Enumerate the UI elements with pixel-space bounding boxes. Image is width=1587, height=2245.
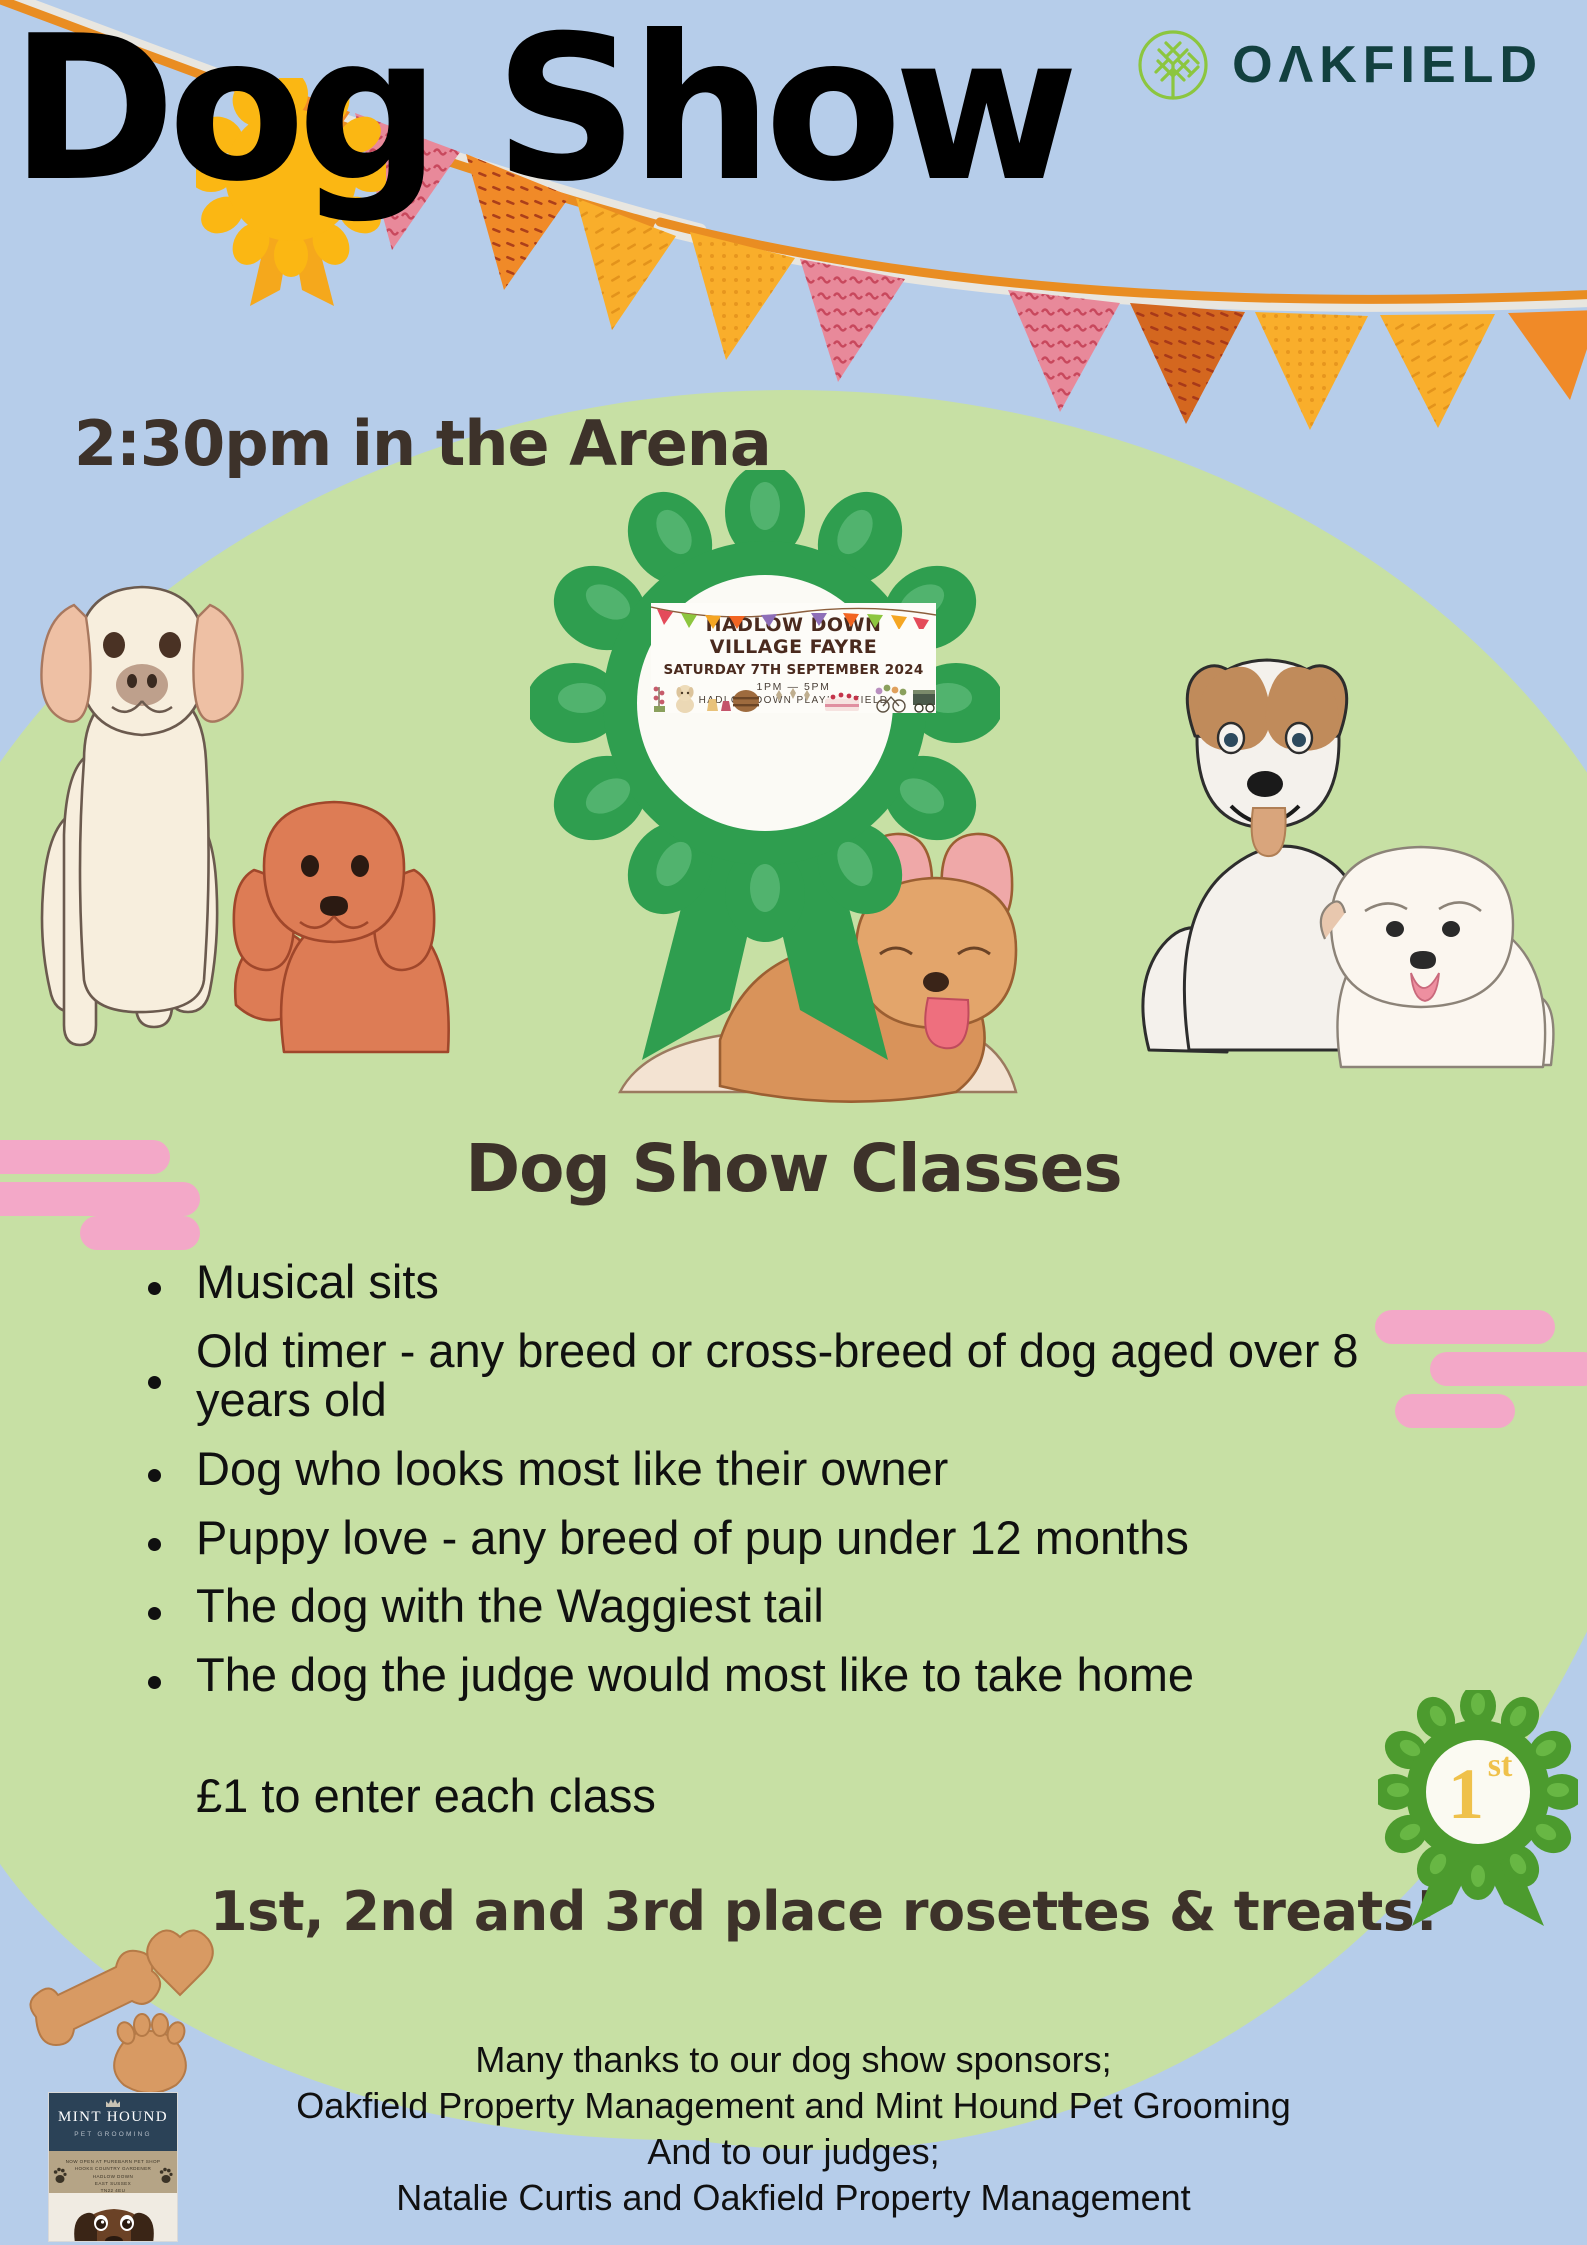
event-time: 2:30pm in the Arena <box>74 407 771 480</box>
paw-biscuit-icon <box>114 2014 187 2093</box>
crown-icon <box>106 2099 120 2107</box>
footer-line-1: Many thanks to our dog show sponsors; <box>0 2037 1587 2083</box>
mint-hound-details-band: NOW OPEN AT PUREBARN PET SHOPHOOKS COUNT… <box>49 2151 177 2193</box>
dog-treat-biscuits <box>14 1925 224 2105</box>
footer-line-2: Oakfield Property Management and Mint Ho… <box>0 2083 1587 2129</box>
fayre-date: SATURDAY 7TH SEPTEMBER 2024 <box>651 662 936 678</box>
first-place-number: 1 <box>1448 1754 1484 1834</box>
green-rosette-icon <box>530 470 1000 1060</box>
list-item: Dog who looks most like their owner <box>132 1445 1422 1494</box>
fayre-line-2: VILLAGE FAYRE <box>651 637 936 659</box>
mint-hound-address: NOW OPEN AT PUREBARN PET SHOPHOOKS COUNT… <box>49 2158 177 2195</box>
oak-tree-icon <box>1136 28 1210 102</box>
dog-show-poster: Dog Show OVKFIELD 2:30pm in the Arena <box>0 0 1587 2245</box>
first-place-suffix: st <box>1488 1747 1513 1784</box>
oakfield-text-rest: KFIELD <box>1319 36 1543 94</box>
list-item: Puppy love - any breed of pup under 12 m… <box>132 1514 1422 1563</box>
flower-bike-icon <box>876 685 907 712</box>
oakfield-logo: OVKFIELD <box>1136 28 1543 102</box>
list-item: Old timer - any breed or cross-breed of … <box>132 1327 1422 1425</box>
mint-hound-subtitle: PET GROOMING <box>49 2131 177 2138</box>
beer-barrel-icon <box>707 690 759 712</box>
oakfield-text-a: V <box>1279 33 1320 93</box>
mint-hound-title: MINT HOUND <box>49 2109 177 2126</box>
mint-hound-header: MINT HOUND PET GROOMING <box>49 2093 177 2151</box>
cake-icon <box>825 693 859 711</box>
list-item: The dog with the Waggiest tail <box>132 1582 1422 1631</box>
cockapoo-illustration <box>218 780 468 1055</box>
footer-line-4: Natalie Curtis and Oakfield Property Man… <box>0 2175 1587 2221</box>
oakfield-wordmark: OVKFIELD <box>1232 35 1543 95</box>
candles-icon <box>776 688 810 711</box>
classes-heading: Dog Show Classes <box>0 1130 1587 1207</box>
oakfield-text-o: O <box>1232 36 1278 94</box>
small-dog-icon <box>676 685 694 713</box>
footer-credits: Many thanks to our dog show sponsors; Oa… <box>0 2037 1587 2221</box>
fayre-icon-strip <box>651 679 936 713</box>
flower-stand-icon <box>654 687 665 712</box>
entry-fee-text: £1 to enter each class <box>196 1768 656 1823</box>
dachshund-photo <box>49 2193 177 2242</box>
village-fayre-card: HADLOW DOWN VILLAGE FAYRE SATURDAY 7TH S… <box>651 603 936 713</box>
footer-line-3: And to our judges; <box>0 2129 1587 2175</box>
mint-hound-logo-card: MINT HOUND PET GROOMING NOW OPEN AT PURE… <box>48 2092 178 2242</box>
prizes-text: 1st, 2nd and 3rd place rosettes & treats… <box>210 1880 1439 1943</box>
page-title: Dog Show <box>10 8 1170 212</box>
dachshund-illustration <box>49 2193 177 2242</box>
first-place-rosette-icon: 1 st <box>1378 1690 1578 1930</box>
bichon-frise-illustration <box>1315 845 1560 1070</box>
classes-list: Musical sits Old timer - any breed or cr… <box>132 1258 1422 1720</box>
food-cart-icon <box>913 690 935 712</box>
list-item: Musical sits <box>132 1258 1422 1307</box>
list-item: The dog the judge would most like to tak… <box>132 1651 1422 1700</box>
mini-bunting-icon <box>651 603 936 629</box>
